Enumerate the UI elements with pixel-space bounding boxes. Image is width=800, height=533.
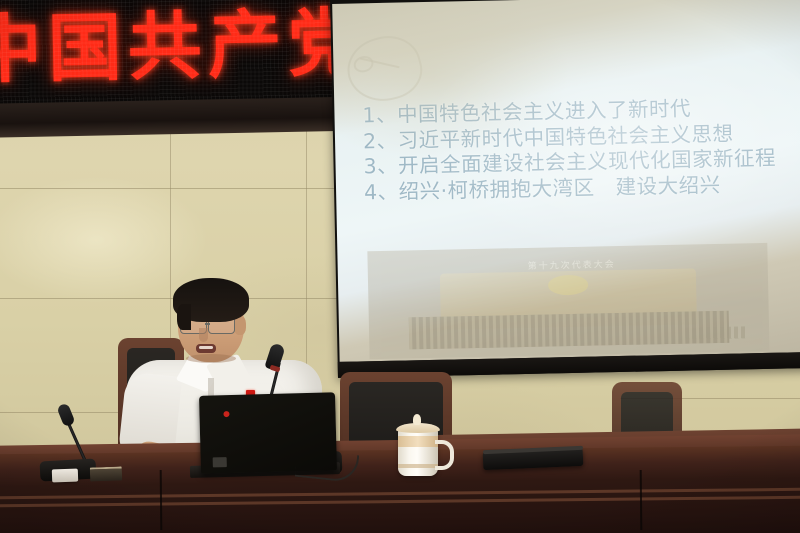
slide-photo-emblem-icon xyxy=(548,275,588,295)
notebook-card xyxy=(90,466,122,481)
slide-watermark-emblem-icon xyxy=(340,28,428,109)
projection-screen: 1、中国特色社会主义进入了新时代 2、习近平新时代中国特色社会主义思想 3、开启… xyxy=(330,0,800,378)
speaker-nose xyxy=(199,328,208,342)
small-white-object xyxy=(52,469,78,483)
screen-surface: 1、中国特色社会主义进入了新时代 2、习近平新时代中国特色社会主义思想 3、开启… xyxy=(332,0,800,362)
slide-photo-great-hall: 第十九次代表大会 xyxy=(367,243,769,359)
laptop-badge xyxy=(213,457,227,467)
speaker-glasses-bridge xyxy=(205,323,210,325)
speaker-chin-shadow xyxy=(186,354,236,363)
conference-room-photo: 中国共产党 1、中国特色社会主义进入了新时代 2、习近平新时代中国特色社会主义思… xyxy=(0,0,800,533)
teacup-handle xyxy=(435,440,454,470)
slide-text-block: 1、中国特色社会主义进入了新时代 2、习近平新时代中国特色社会主义思想 3、开启… xyxy=(362,94,800,205)
speaker-mouth xyxy=(196,344,216,353)
teacup-decor-band xyxy=(398,436,438,447)
slide-photo-seating xyxy=(409,311,730,350)
slide-photo-watermark xyxy=(685,326,745,339)
teacup-lower-band xyxy=(398,464,438,468)
speaker-hair xyxy=(173,278,249,322)
laptop-logo-dot xyxy=(223,411,229,417)
teacup-lid-knob xyxy=(413,414,421,425)
